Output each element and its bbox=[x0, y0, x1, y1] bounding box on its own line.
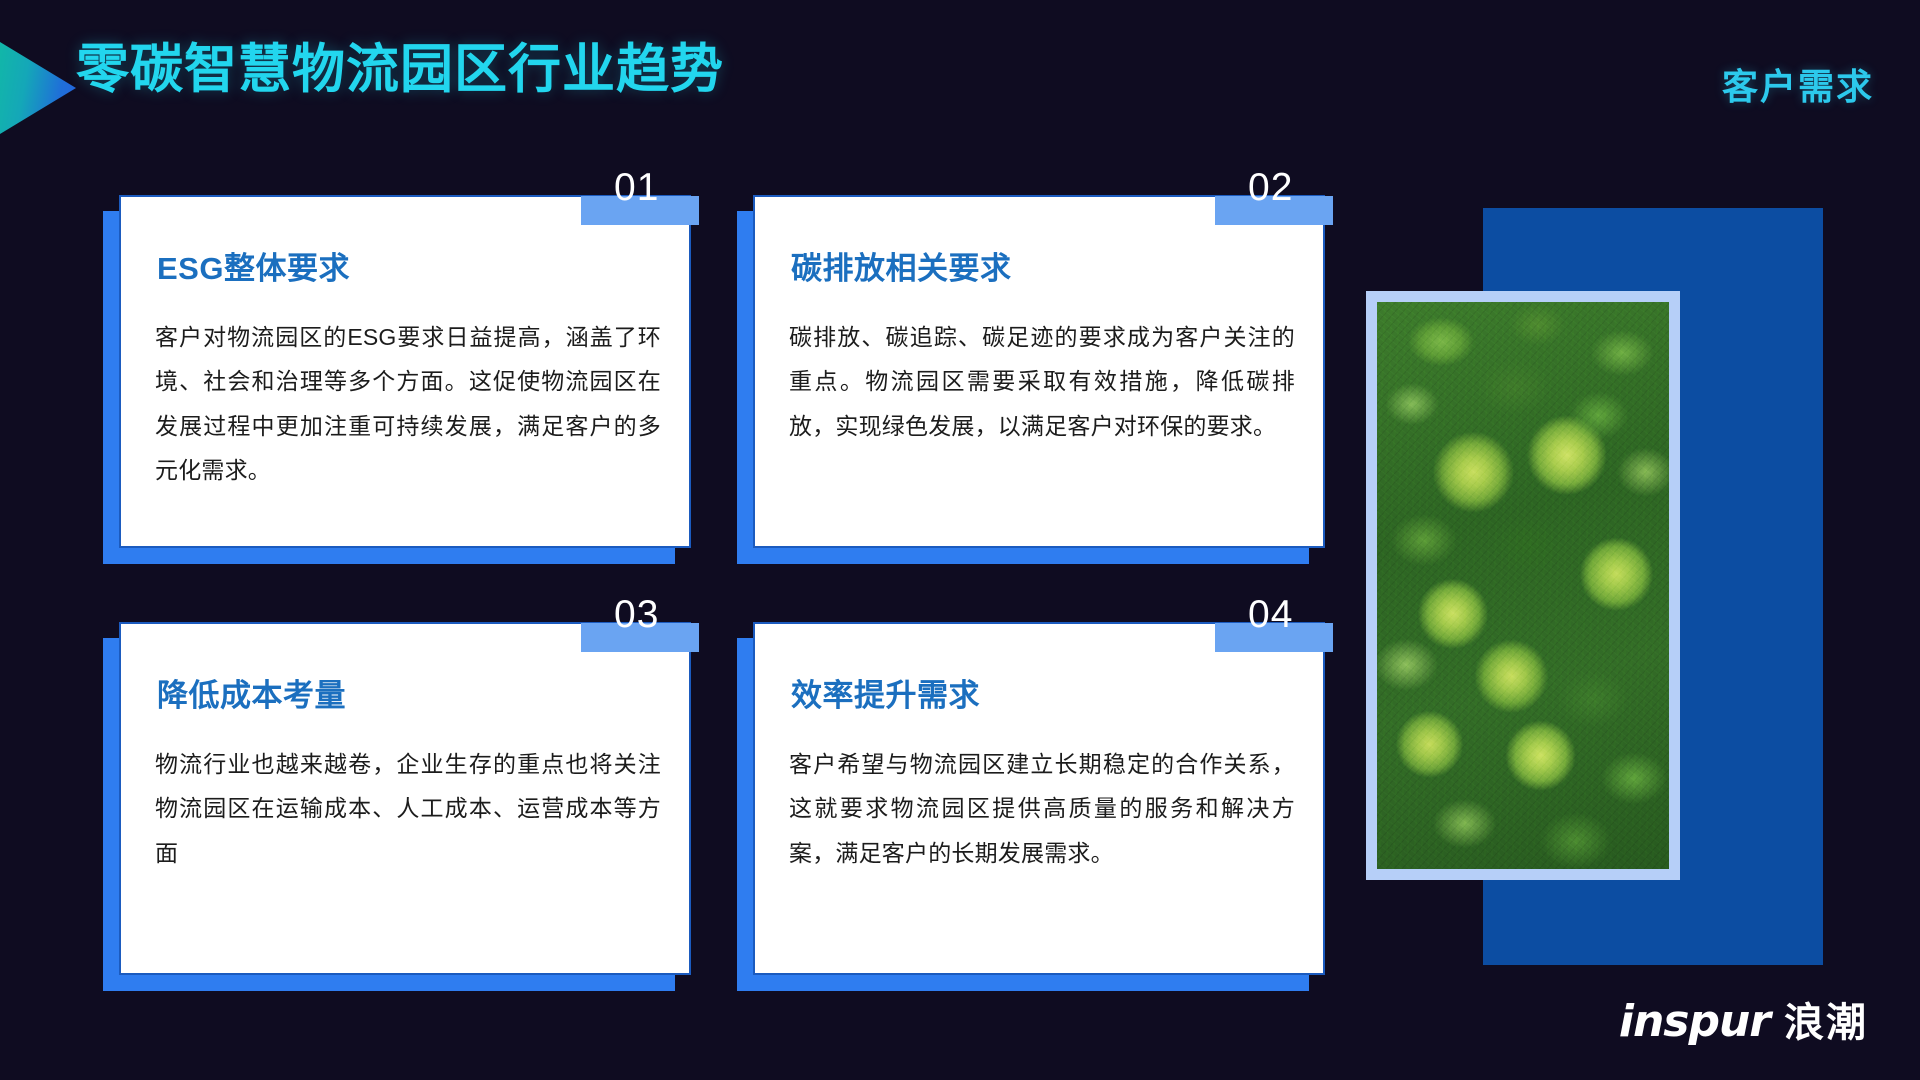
card-surface: 降低成本考量 物流行业也越来越卷，企业生存的重点也将关注物流园区在运输成本、人工… bbox=[119, 622, 691, 975]
card-title: ESG整体要求 bbox=[157, 243, 350, 288]
photo-frame bbox=[1366, 291, 1680, 880]
slide-root: 零碳智慧物流园区行业趋势 客户需求 ESG整体要求 客户对物流园区的ESG要求日… bbox=[0, 0, 1920, 1080]
info-card-03[interactable]: 降低成本考量 物流行业也越来越卷，企业生存的重点也将关注物流园区在运输成本、人工… bbox=[103, 622, 675, 975]
card-number: 02 bbox=[1248, 168, 1293, 207]
chevron-icon bbox=[0, 42, 76, 134]
card-title: 碳排放相关要求 bbox=[791, 243, 1012, 288]
card-title: 效率提升需求 bbox=[791, 670, 980, 715]
section-tag: 客户需求 bbox=[1722, 58, 1874, 110]
rainforest-photo bbox=[1377, 302, 1669, 869]
info-card-02[interactable]: 碳排放相关要求 碳排放、碳追踪、碳足迹的要求成为客户关注的重点。物流园区需要采取… bbox=[737, 195, 1309, 548]
card-surface: 效率提升需求 客户希望与物流园区建立长期稳定的合作关系，这就要求物流园区提供高质… bbox=[753, 622, 1325, 975]
info-card-04[interactable]: 效率提升需求 客户希望与物流园区建立长期稳定的合作关系，这就要求物流园区提供高质… bbox=[737, 622, 1309, 975]
card-body: 客户希望与物流园区建立长期稳定的合作关系，这就要求物流园区提供高质量的服务和解决… bbox=[789, 742, 1295, 875]
card-number: 04 bbox=[1248, 595, 1293, 634]
logo-latin-text: inspur bbox=[1619, 996, 1770, 1047]
card-body: 客户对物流园区的ESG要求日益提高，涵盖了环境、社会和治理等多个方面。这促使物流… bbox=[155, 315, 661, 493]
card-surface: 碳排放相关要求 碳排放、碳追踪、碳足迹的要求成为客户关注的重点。物流园区需要采取… bbox=[753, 195, 1325, 548]
card-body: 物流行业也越来越卷，企业生存的重点也将关注物流园区在运输成本、人工成本、运营成本… bbox=[155, 742, 661, 875]
card-number: 01 bbox=[614, 168, 659, 207]
card-body: 碳排放、碳追踪、碳足迹的要求成为客户关注的重点。物流园区需要采取有效措施，降低碳… bbox=[789, 315, 1295, 448]
page-title: 零碳智慧物流园区行业趋势 bbox=[76, 40, 724, 101]
card-number: 03 bbox=[614, 595, 659, 634]
inspur-logo: inspur 浪潮 bbox=[1619, 990, 1868, 1048]
card-title: 降低成本考量 bbox=[157, 670, 346, 715]
info-card-01[interactable]: ESG整体要求 客户对物流园区的ESG要求日益提高，涵盖了环境、社会和治理等多个… bbox=[103, 195, 675, 548]
logo-chinese-text: 浪潮 bbox=[1784, 990, 1868, 1048]
card-surface: ESG整体要求 客户对物流园区的ESG要求日益提高，涵盖了环境、社会和治理等多个… bbox=[119, 195, 691, 548]
